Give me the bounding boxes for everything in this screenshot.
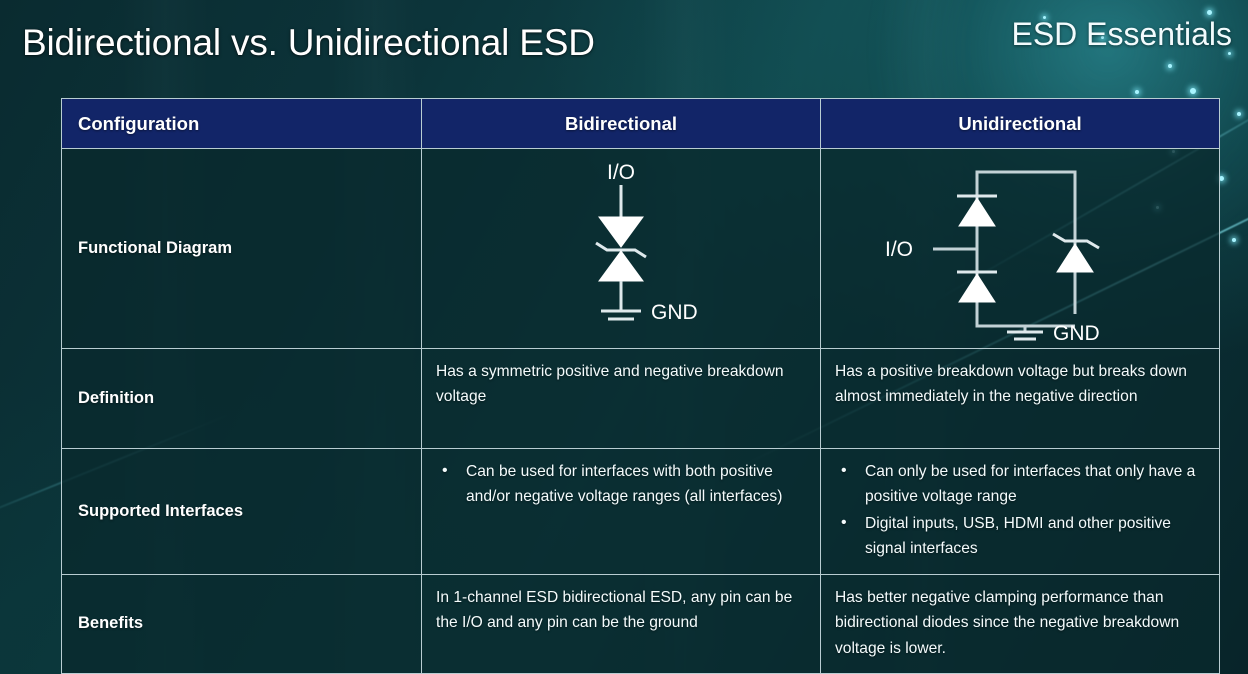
- ground-symbol-icon: [601, 311, 641, 319]
- bullet-list: Can only be used for interfaces that onl…: [835, 459, 1205, 561]
- list-item: Can be used for interfaces with both pos…: [436, 459, 806, 510]
- cell-definition-unidirectional: Has a positive breakdown voltage but bre…: [821, 349, 1220, 449]
- diode-triangle-icon: [599, 251, 643, 281]
- table-row: Functional Diagram I/O: [62, 149, 1220, 349]
- page-title: Bidirectional vs. Unidirectional ESD: [22, 22, 595, 64]
- slide-canvas: Bidirectional vs. Unidirectional ESD ESD…: [0, 0, 1248, 674]
- unidirectional-circuit-diagram: I/O: [821, 149, 1219, 348]
- row-label-functional-diagram: Functional Diagram: [62, 149, 422, 349]
- table-row: Benefits In 1-channel ESD bidirectional …: [62, 575, 1220, 674]
- list-item: Can only be used for interfaces that onl…: [835, 459, 1205, 510]
- cell-supported-interfaces-unidirectional: Can only be used for interfaces that onl…: [821, 449, 1220, 575]
- comparison-table: Configuration Bidirectional Unidirection…: [61, 98, 1220, 674]
- cell-benefits-unidirectional: Has better negative clamping performance…: [821, 575, 1220, 674]
- sparkle-icon: [1135, 90, 1139, 94]
- column-header-configuration: Configuration: [62, 99, 422, 149]
- row-label-definition: Definition: [62, 349, 422, 449]
- sparkle-icon: [1237, 112, 1241, 116]
- cell-supported-interfaces-bidirectional: Can be used for interfaces with both pos…: [422, 449, 821, 575]
- slide-kicker-label: ESD Essentials: [1011, 16, 1232, 53]
- column-header-bidirectional: Bidirectional: [422, 99, 821, 149]
- table-body: Functional Diagram I/O: [62, 149, 1220, 674]
- sparkle-icon: [1207, 10, 1212, 15]
- zener-diode-triangle-icon: [1057, 244, 1093, 272]
- diode-triangle-icon: [959, 274, 995, 302]
- column-header-unidirectional: Unidirectional: [821, 99, 1220, 149]
- sparkle-icon: [1232, 238, 1236, 242]
- list-item: Digital inputs, USB, HDMI and other posi…: [835, 511, 1205, 562]
- cell-unidirectional-diagram: I/O: [821, 149, 1220, 349]
- row-label-benefits: Benefits: [62, 575, 422, 674]
- ground-symbol-icon: [1007, 332, 1043, 339]
- diode-triangle-icon: [599, 217, 643, 247]
- table-row: Supported Interfaces Can be used for int…: [62, 449, 1220, 575]
- cell-definition-bidirectional: Has a symmetric positive and negative br…: [422, 349, 821, 449]
- table-header: Configuration Bidirectional Unidirection…: [62, 99, 1220, 149]
- unidirectional-gnd-label: GND: [1053, 322, 1100, 345]
- bidirectional-gnd-label: GND: [651, 301, 698, 324]
- bidirectional-circuit-diagram: I/O: [422, 149, 820, 348]
- unidirectional-io-label: I/O: [885, 238, 913, 261]
- sparkle-icon: [1168, 64, 1172, 68]
- bullet-list: Can be used for interfaces with both pos…: [436, 459, 806, 510]
- table-header-row: Configuration Bidirectional Unidirection…: [62, 99, 1220, 149]
- row-label-supported-interfaces: Supported Interfaces: [62, 449, 422, 575]
- diode-triangle-icon: [959, 198, 995, 226]
- cell-bidirectional-diagram: I/O: [422, 149, 821, 349]
- cell-benefits-bidirectional: In 1-channel ESD bidirectional ESD, any …: [422, 575, 821, 674]
- sparkle-icon: [1190, 88, 1196, 94]
- table-row: Definition Has a symmetric positive and …: [62, 349, 1220, 449]
- bidirectional-io-label: I/O: [607, 161, 635, 184]
